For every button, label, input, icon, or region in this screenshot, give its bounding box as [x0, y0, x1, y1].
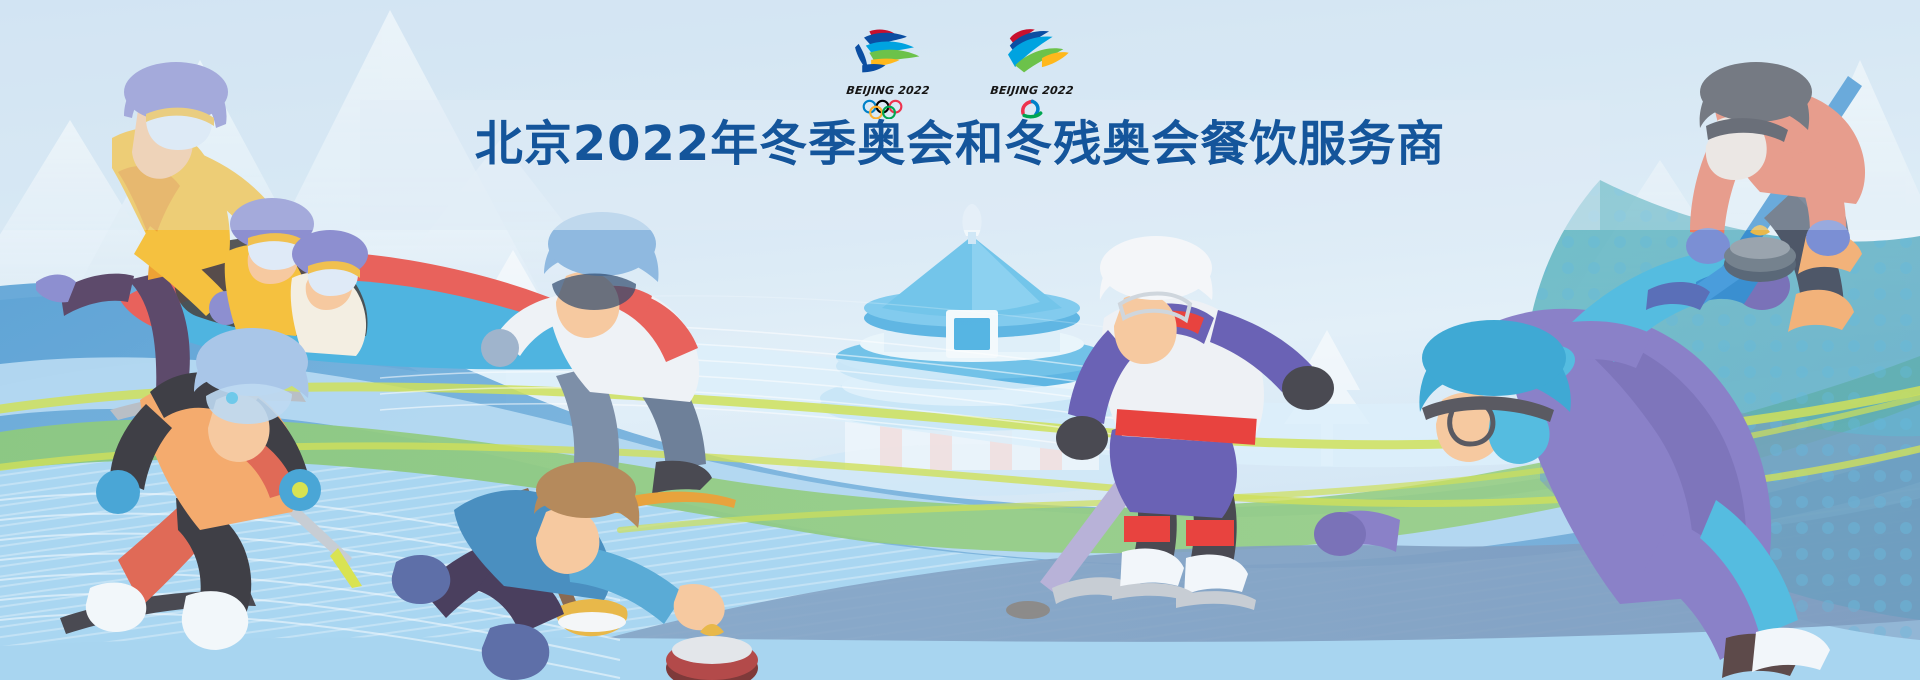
- sweep-glove-back: [1686, 228, 1730, 264]
- olympic-wordmark: BEIJING 2022: [835, 84, 940, 97]
- hockey-glove-right: [1282, 366, 1334, 410]
- olympic-winter-emblem-icon: [839, 26, 937, 76]
- agitos-icon: [1003, 99, 1062, 119]
- hockey-glove-left: [1056, 416, 1108, 460]
- beijing-2022-paralympic-emblem[interactable]: BEIJING 2022: [980, 26, 1084, 124]
- xc-boot-front: [182, 591, 248, 650]
- paralympic-wordmark: BEIJING 2022: [979, 84, 1084, 97]
- hockey-sock-front: [1186, 520, 1234, 546]
- curl-boot-back: [392, 555, 451, 604]
- curl-boot-front: [482, 624, 549, 680]
- emblem-row: BEIJING 2022 BEIJING 2022: [0, 26, 1920, 124]
- hockey-puck: [1006, 601, 1050, 619]
- hockey-sock-back: [1124, 516, 1170, 542]
- sk2-glove-back: [1314, 512, 1366, 556]
- sk1-glove: [481, 329, 519, 367]
- olympic-rings-icon: [859, 99, 918, 119]
- xc-glove-back: [96, 470, 140, 514]
- paralympic-winter-emblem-icon: [983, 26, 1081, 76]
- bobsled-rider-back: [291, 230, 368, 356]
- beijing-2022-olympic-emblem[interactable]: BEIJING 2022: [836, 26, 940, 124]
- hockey-face: [1114, 294, 1177, 364]
- olympic-banner: BEIJING 2022 BEIJING 2022: [0, 0, 1920, 680]
- xc-boot-back: [86, 583, 146, 632]
